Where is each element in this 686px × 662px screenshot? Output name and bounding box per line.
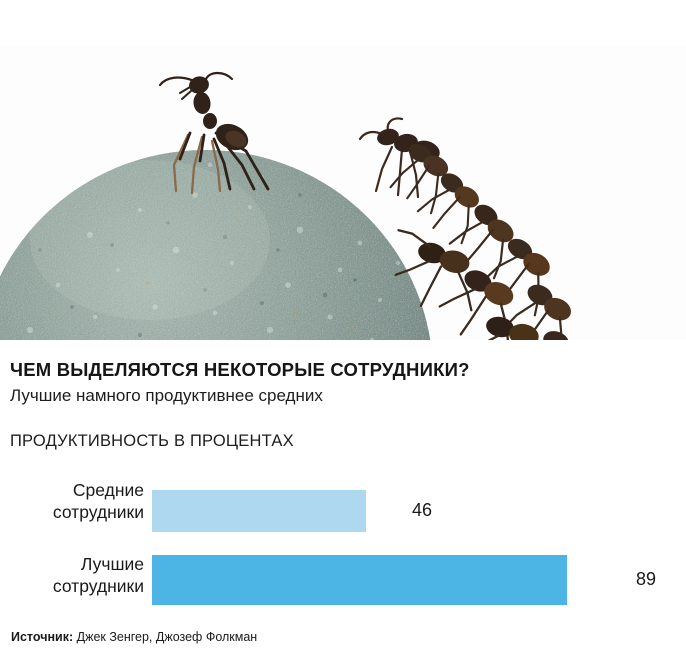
bar-label-best-line1: Лучшие [0, 553, 144, 575]
bar-fill-average [152, 490, 366, 532]
chart-row-best: Лучшие сотрудники 89 [0, 553, 686, 603]
header-photo [0, 45, 686, 340]
source-prefix: Источник: [11, 630, 73, 644]
bar-track-best [152, 555, 618, 605]
bar-label-average: Средние сотрудники [0, 479, 144, 523]
bar-track-average [152, 490, 618, 532]
bar-chart: Средние сотрудники 46 Лучшие сотрудники … [0, 470, 686, 610]
infographic-page: ЧЕМ ВЫДЕЛЯЮТСЯ НЕКОТОРЫЕ СОТРУДНИКИ? Луч… [0, 0, 686, 662]
bar-label-best: Лучшие сотрудники [0, 553, 144, 597]
bar-label-average-line1: Средние [0, 479, 144, 501]
source-authors: Джек Зенгер, Джозеф Фолкман [73, 630, 257, 644]
bar-value-average: 46 [412, 500, 432, 521]
chart-row-average: Средние сотрудники 46 [0, 480, 686, 532]
chart-section-label: ПРОДУКТИВНОСТЬ В ПРОЦЕНТАХ [10, 432, 294, 451]
bar-label-average-line2: сотрудники [0, 501, 144, 523]
headline: ЧЕМ ВЫДЕЛЯЮТСЯ НЕКОТОРЫЕ СОТРУДНИКИ? [10, 359, 470, 381]
subtitle: Лучшие намного продуктивнее средних [10, 386, 323, 406]
bar-value-best: 89 [636, 569, 656, 590]
source-line: Источник: Джек Зенгер, Джозеф Фолкман [11, 630, 257, 644]
bar-fill-best [152, 555, 567, 605]
bar-label-best-line2: сотрудники [0, 575, 144, 597]
source-divider [0, 614, 686, 615]
ants-on-stone-illustration [0, 45, 686, 340]
